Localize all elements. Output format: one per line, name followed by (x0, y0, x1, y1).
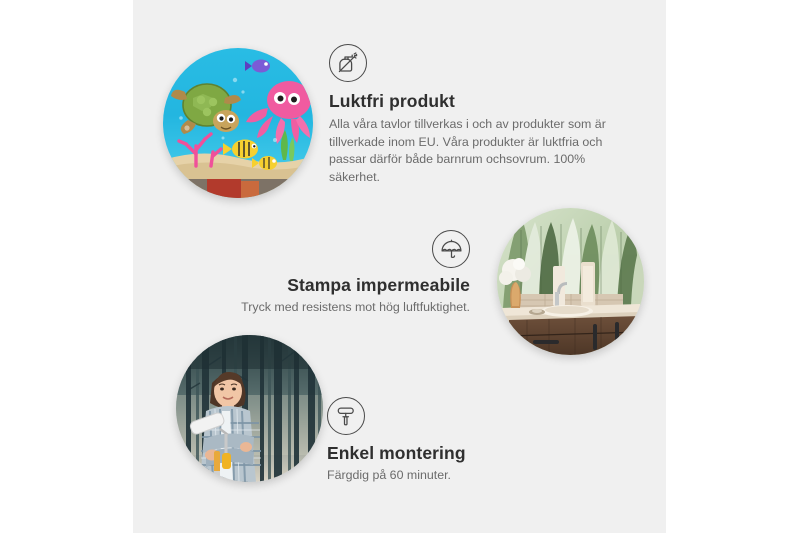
bathroom-wallpaper-photo (497, 208, 644, 355)
infographic-canvas: Luktfri produkt Alla våra tavlor tillver… (0, 0, 800, 533)
feature-body: Tryck med resistens mot hög luftfuktighe… (205, 299, 470, 317)
underwater-cartoon-photo (163, 48, 313, 198)
feature-odourless: Luktfri produkt Alla våra tavlor tillver… (329, 44, 629, 186)
feature-body: Alla våra tavlor tillverkas i och av pro… (329, 116, 629, 186)
feature-title: Stampa impermeabile (205, 275, 470, 296)
feature-title: Luktfri produkt (329, 91, 629, 112)
feature-mounting: Enkel montering Färgdig på 60 minuter. (327, 397, 577, 485)
no-spray-bottle-icon (329, 44, 367, 82)
paint-roller-icon (327, 397, 365, 435)
painter-forest-photo (176, 335, 323, 482)
feature-waterproof: Stampa impermeabile Tryck med resistens … (205, 230, 470, 317)
umbrella-icon (432, 230, 470, 268)
feature-title: Enkel montering (327, 443, 577, 464)
feature-body: Färgdig på 60 minuter. (327, 467, 577, 485)
